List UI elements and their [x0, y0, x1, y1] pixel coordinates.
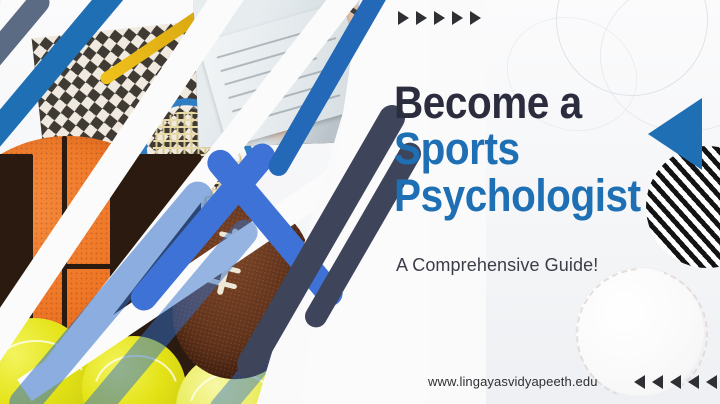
headline-line-2: Sports [394, 128, 673, 170]
website-url: www.lingayasvidyapeeth.edu [428, 374, 598, 389]
bottom-arrow-group [634, 375, 717, 389]
arrow-right-icon [470, 11, 481, 25]
headline-line-3: Psychologist [394, 175, 673, 217]
arrow-right-icon [416, 11, 427, 25]
headline-line-1: Become a [394, 82, 673, 124]
subtitle: A Comprehensive Guide! [396, 255, 598, 276]
arrow-left-icon [634, 375, 645, 389]
arrow-left-icon [652, 375, 663, 389]
promotional-banner: Become a Sports Psychologist A Comprehen… [0, 0, 720, 404]
arrow-right-icon [398, 11, 409, 25]
arrow-left-icon [688, 375, 699, 389]
arrow-right-icon [452, 11, 463, 25]
arrow-left-icon [670, 375, 681, 389]
headline-block: Become a Sports Psychologist [394, 82, 704, 217]
arrow-right-icon [434, 11, 445, 25]
arrow-left-icon [706, 375, 717, 389]
top-arrow-group [398, 11, 481, 25]
